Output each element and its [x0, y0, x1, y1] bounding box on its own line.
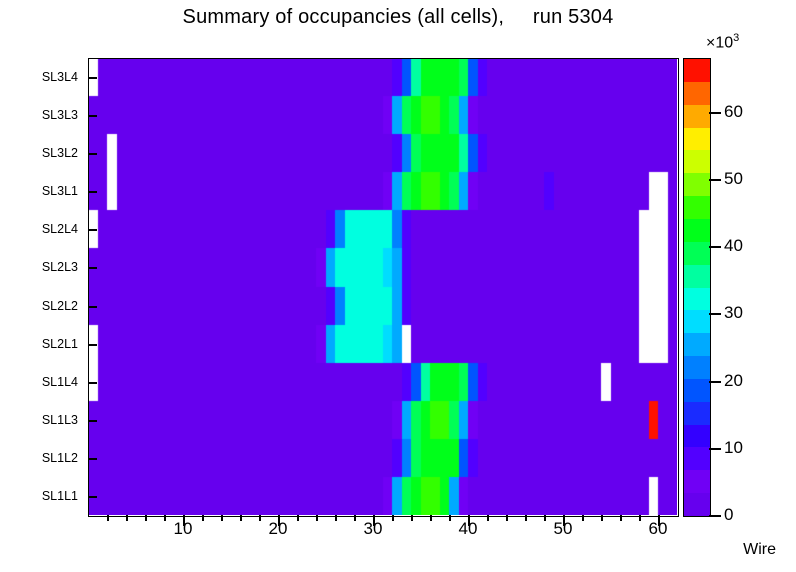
colorbar-tick	[709, 515, 721, 517]
x-axis-label-30: 30	[364, 519, 383, 539]
colorbar-band	[684, 288, 710, 311]
colorbar-tick-label-40: 40	[724, 236, 743, 256]
heatmap-plot[interactable]	[88, 58, 677, 515]
x-tick-minor	[164, 515, 166, 521]
colorbar-tick	[709, 313, 721, 315]
colorbar-tick	[709, 179, 721, 181]
colorbar-exponent-base: ×10	[706, 34, 733, 51]
x-tick-minor	[335, 515, 337, 521]
x-axis-label-50: 50	[554, 519, 573, 539]
y-axis-label-sl1l2: SL1L2	[42, 451, 78, 465]
y-axis-ticks	[88, 58, 97, 515]
x-axis-label-20: 20	[269, 519, 288, 539]
colorbar-band	[684, 356, 710, 379]
y-axis-label-sl2l3: SL2L3	[42, 260, 78, 274]
colorbar-band	[684, 105, 710, 128]
x-tick-minor	[639, 515, 641, 521]
colorbar-tick-label-0: 0	[724, 505, 733, 525]
colorbar-band	[684, 59, 710, 82]
colorbar-band	[684, 196, 710, 219]
y-axis-label-sl1l3: SL1L3	[42, 413, 78, 427]
x-tick-minor	[392, 515, 394, 521]
colorbar-band	[684, 242, 710, 265]
colorbar-band	[684, 310, 710, 333]
y-tick	[88, 267, 97, 269]
y-axis-label-sl3l4: SL3L4	[42, 70, 78, 84]
colorbar-band	[684, 425, 710, 448]
y-axis-label-sl2l1: SL2L1	[42, 337, 78, 351]
colorbar-band	[684, 402, 710, 425]
x-tick-minor	[411, 515, 413, 521]
x-axis-label-60: 60	[649, 519, 668, 539]
x-tick-minor	[259, 515, 261, 521]
y-tick	[88, 191, 97, 193]
colorbar[interactable]	[683, 58, 711, 517]
x-axis-label-40: 40	[459, 519, 478, 539]
colorbar-band	[684, 470, 710, 493]
y-axis-label-sl3l3: SL3L3	[42, 108, 78, 122]
y-tick	[88, 153, 97, 155]
colorbar-exponent: ×103	[706, 32, 739, 52]
colorbar-band	[684, 379, 710, 402]
x-tick-minor	[601, 515, 603, 521]
x-tick-minor	[430, 515, 432, 521]
x-tick-minor	[620, 515, 622, 521]
colorbar-band	[684, 128, 710, 151]
y-axis-label-sl1l1: SL1L1	[42, 489, 78, 503]
x-tick-minor	[582, 515, 584, 521]
y-axis-label-sl2l4: SL2L4	[42, 222, 78, 236]
colorbar-exponent-power: 3	[733, 32, 739, 44]
colorbar-tick	[709, 381, 721, 383]
heatmap-canvas[interactable]	[88, 58, 677, 515]
colorbar-tick-label-50: 50	[724, 169, 743, 189]
colorbar-tick-label-30: 30	[724, 303, 743, 323]
colorbar-tick-label-10: 10	[724, 438, 743, 458]
y-axis-label-sl3l1: SL3L1	[42, 184, 78, 198]
y-tick	[88, 344, 97, 346]
x-tick-minor	[525, 515, 527, 521]
x-tick-minor	[506, 515, 508, 521]
colorbar-tick	[709, 448, 721, 450]
x-axis-title: Wire	[743, 541, 776, 559]
colorbar-band	[684, 493, 710, 516]
x-tick-minor	[145, 515, 147, 521]
x-tick-minor	[107, 515, 109, 521]
y-tick	[88, 496, 97, 498]
colorbar-tick-label-60: 60	[724, 102, 743, 122]
y-tick	[88, 229, 97, 231]
y-axis-label-sl1l4: SL1L4	[42, 375, 78, 389]
colorbar-band	[684, 333, 710, 356]
colorbar-band	[684, 150, 710, 173]
y-tick	[88, 77, 97, 79]
colorbar-tick	[709, 246, 721, 248]
y-tick	[88, 382, 97, 384]
colorbar-tick	[709, 112, 721, 114]
y-axis-label-sl2l2: SL2L2	[42, 299, 78, 313]
x-tick-minor	[221, 515, 223, 521]
y-tick	[88, 306, 97, 308]
x-tick-minor	[126, 515, 128, 521]
y-tick	[88, 458, 97, 460]
x-tick-minor	[240, 515, 242, 521]
colorbar-tick-label-20: 20	[724, 371, 743, 391]
colorbar-band	[684, 173, 710, 196]
colorbar-band	[684, 219, 710, 242]
root-canvas: Summary of occupancies (all cells), run …	[0, 0, 796, 572]
y-axis-label-sl3l2: SL3L2	[42, 146, 78, 160]
x-tick-minor	[202, 515, 204, 521]
x-tick-minor	[487, 515, 489, 521]
page-title: Summary of occupancies (all cells), run …	[0, 6, 796, 29]
y-tick	[88, 115, 97, 117]
x-tick-minor	[354, 515, 356, 521]
x-tick-minor	[297, 515, 299, 521]
y-tick	[88, 420, 97, 422]
x-axis-label-10: 10	[174, 519, 193, 539]
colorbar-band	[684, 265, 710, 288]
x-tick-minor	[449, 515, 451, 521]
colorbar-band	[684, 447, 710, 470]
colorbar-band	[684, 82, 710, 105]
x-tick-minor	[544, 515, 546, 521]
x-tick-minor	[316, 515, 318, 521]
